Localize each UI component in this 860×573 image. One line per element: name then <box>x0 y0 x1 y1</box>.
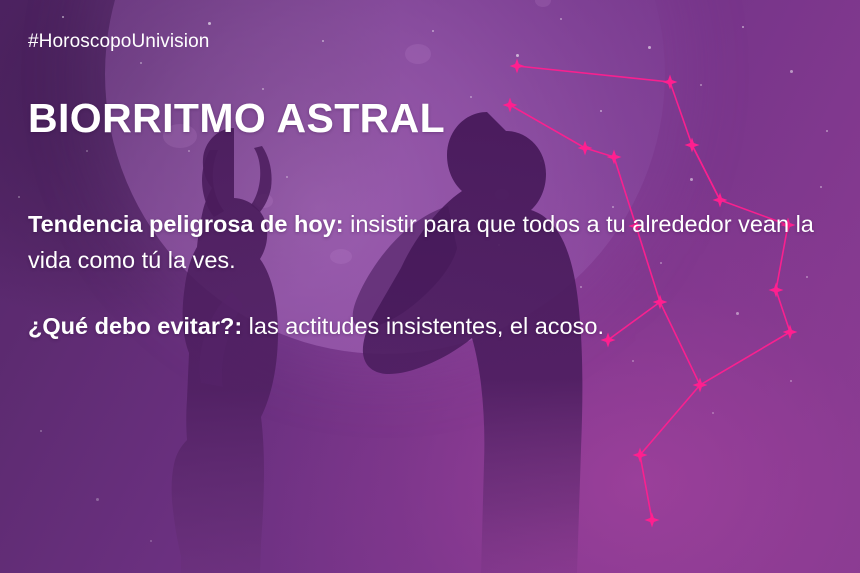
paragraph-evitar-text: las actitudes insistentes, el acoso. <box>242 313 604 339</box>
body-text-block: Tendencia peligrosa de hoy: insistir par… <box>28 206 834 344</box>
paragraph-evitar: ¿Qué debo evitar?: las actitudes insiste… <box>28 308 834 344</box>
page-title: BIORRITMO ASTRAL <box>28 95 445 141</box>
paragraph-tendencia: Tendencia peligrosa de hoy: insistir par… <box>28 206 834 278</box>
hashtag-label: #HoroscopoUnivision <box>28 31 209 53</box>
paragraph-evitar-lead: ¿Qué debo evitar?: <box>28 313 242 339</box>
paragraph-tendencia-lead: Tendencia peligrosa de hoy: <box>28 211 344 237</box>
horoscope-graphic: #HoroscopoUnivision BIORRITMO ASTRAL Ten… <box>0 0 860 573</box>
